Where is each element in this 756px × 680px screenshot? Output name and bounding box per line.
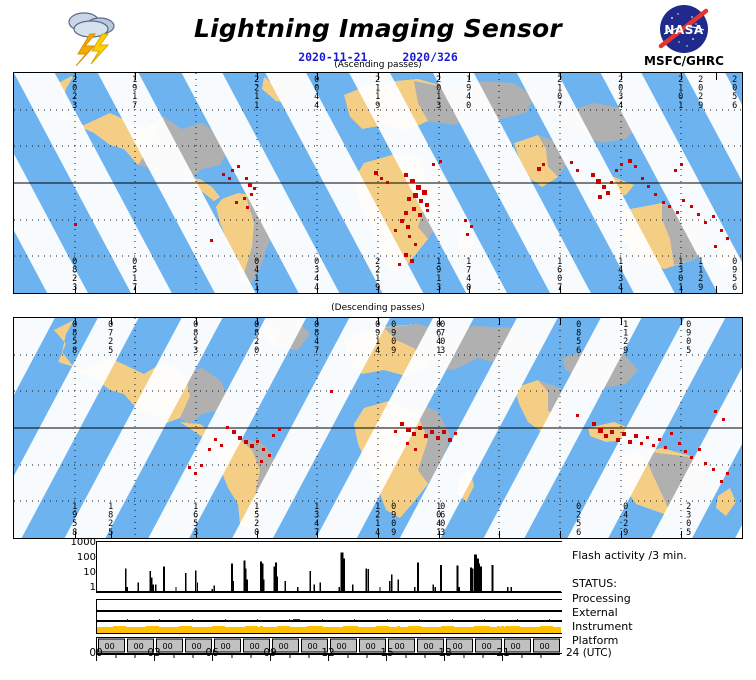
flash-activity-chart: 1000 100 10 1 00000000000000000000000000… xyxy=(0,539,756,661)
utc-axis-label: 24 (UTC) xyxy=(566,647,612,659)
descending-map-wrapper: 0858 0725 0853 0820 0847 0914 0641 0909 … xyxy=(13,317,743,539)
y-tick-10: 10 xyxy=(62,567,96,578)
status-heading: STATUS: xyxy=(572,577,617,590)
ascending-map-wrapper: 2023 1917 2211 0044 2119 2013 1940 2107 … xyxy=(13,72,743,294)
time-tick-15: 15 xyxy=(380,647,393,659)
time-tick-03: 03 xyxy=(147,647,160,659)
time-tick-18: 18 xyxy=(438,647,451,659)
y-axis-labels: 1000 100 10 1 xyxy=(60,539,96,599)
status-legend-instrument: Instrument xyxy=(572,620,633,633)
flash-legend-title: Flash activity /3 min. xyxy=(572,549,687,562)
descending-caption: (Descending passes) xyxy=(0,303,756,313)
time-tick-06: 06 xyxy=(205,647,218,659)
status-legend-processing: Processing xyxy=(572,592,631,605)
lis-daily-summary-page: Lightning Imaging Sensor 2020-11-21 2020… xyxy=(0,0,756,680)
status-processing-row[interactable] xyxy=(96,599,562,611)
flash-activity-plot[interactable] xyxy=(96,541,562,593)
status-legend-external: External xyxy=(572,606,618,619)
status-legend-platform: Platform xyxy=(572,634,618,647)
time-axis-labels: 00 03 06 09 12 15 18 21 xyxy=(60,647,600,661)
ascending-map[interactable]: 2023 1917 2211 0044 2119 2013 1940 2107 … xyxy=(13,72,743,294)
status-instrument-row[interactable] xyxy=(96,621,562,634)
nasa-meatball-icon: NASA xyxy=(646,4,722,54)
ascending-caption: (Ascending passes) xyxy=(0,60,756,70)
y-tick-1000: 1000 xyxy=(62,537,96,548)
time-tick-21: 21 xyxy=(496,647,509,659)
svg-text:NASA: NASA xyxy=(664,23,703,37)
time-tick-09: 09 xyxy=(263,647,276,659)
page-title: Lightning Imaging Sensor xyxy=(0,14,756,43)
page-header: Lightning Imaging Sensor 2020-11-21 2020… xyxy=(0,0,756,72)
time-tick-12: 12 xyxy=(321,647,334,659)
y-tick-1: 1 xyxy=(62,582,96,593)
y-tick-100: 100 xyxy=(62,552,96,563)
status-external-row[interactable] xyxy=(96,611,562,621)
descending-map[interactable]: 0858 0725 0853 0820 0847 0914 0641 0909 … xyxy=(13,317,743,539)
time-tick-00: 00 xyxy=(89,647,102,659)
